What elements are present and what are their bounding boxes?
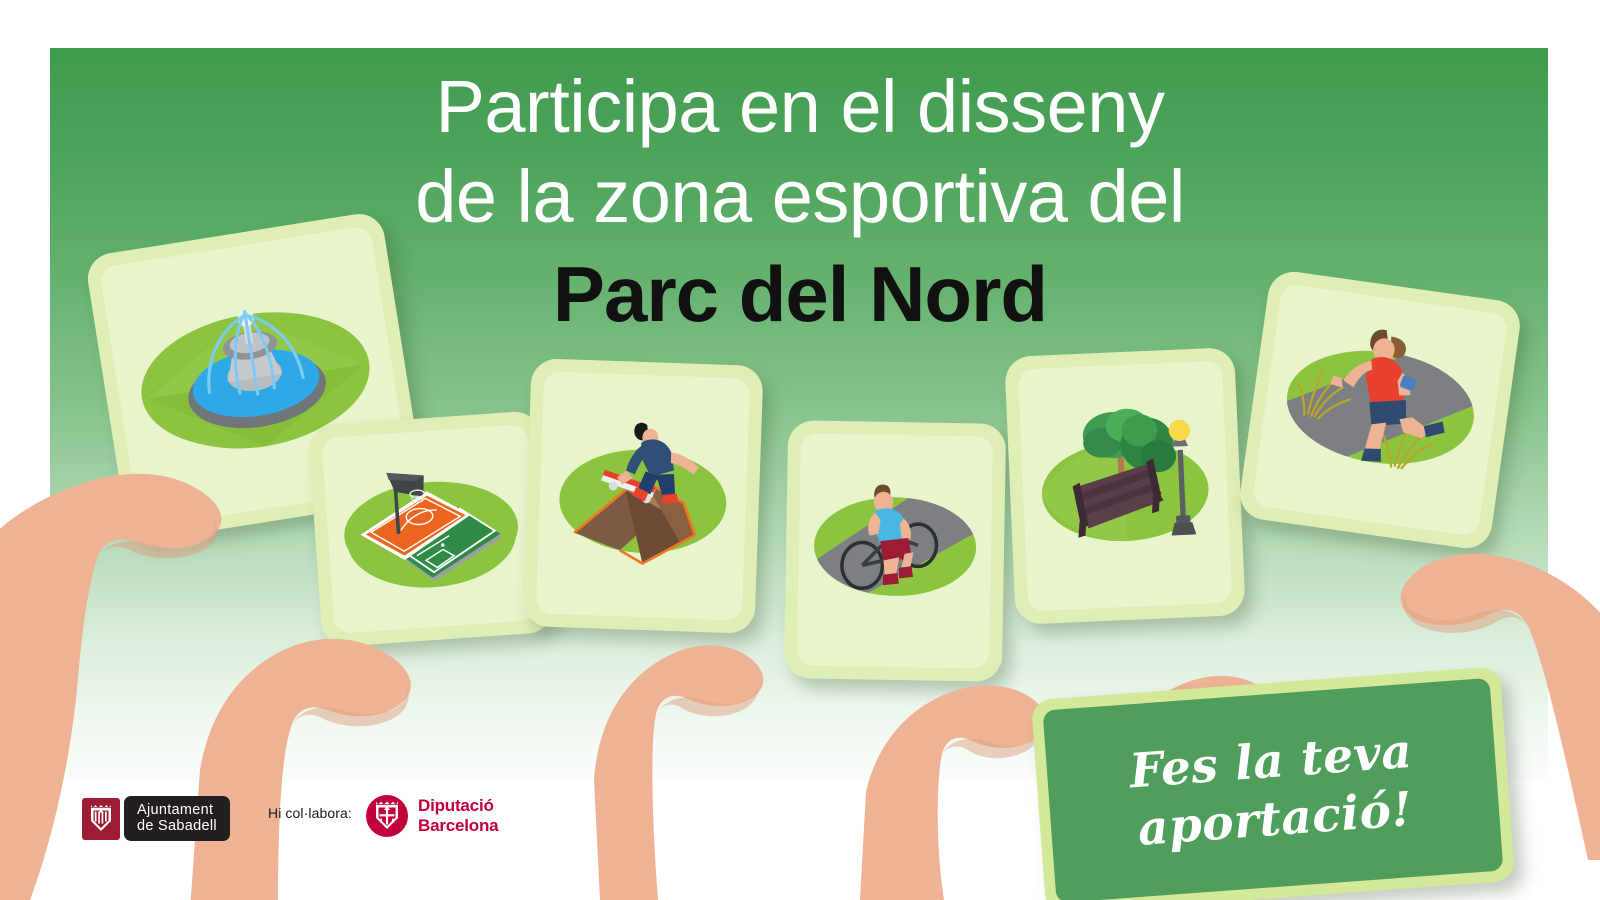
diputacio-name-line-1: Diputació [418, 796, 498, 816]
sabadell-shield-icon [82, 798, 120, 840]
sabadell-name-plate: Ajuntament de Sabadell [124, 796, 230, 841]
collaborates-label: Hi col·labora: [268, 805, 352, 821]
logo-ajuntament-de-sabadell[interactable]: Ajuntament de Sabadell [82, 796, 230, 841]
poster-root: Participa en el disseny de la zona espor… [0, 0, 1600, 900]
sabadell-name-line-1: Ajuntament [137, 802, 217, 818]
diputacio-name-line-2: Barcelona [418, 816, 498, 836]
sabadell-name-line-2: de Sabadell [137, 818, 217, 834]
diputacio-name-plate: Diputació Barcelona [418, 796, 498, 836]
collaborates-label-group: Hi col·labora: [268, 805, 352, 821]
footer-logos: Ajuntament de Sabadell Hi col·labora: [0, 782, 1600, 900]
diputacio-seal-icon [366, 795, 408, 837]
logo-diputacio-barcelona[interactable]: Diputació Barcelona [366, 795, 498, 837]
